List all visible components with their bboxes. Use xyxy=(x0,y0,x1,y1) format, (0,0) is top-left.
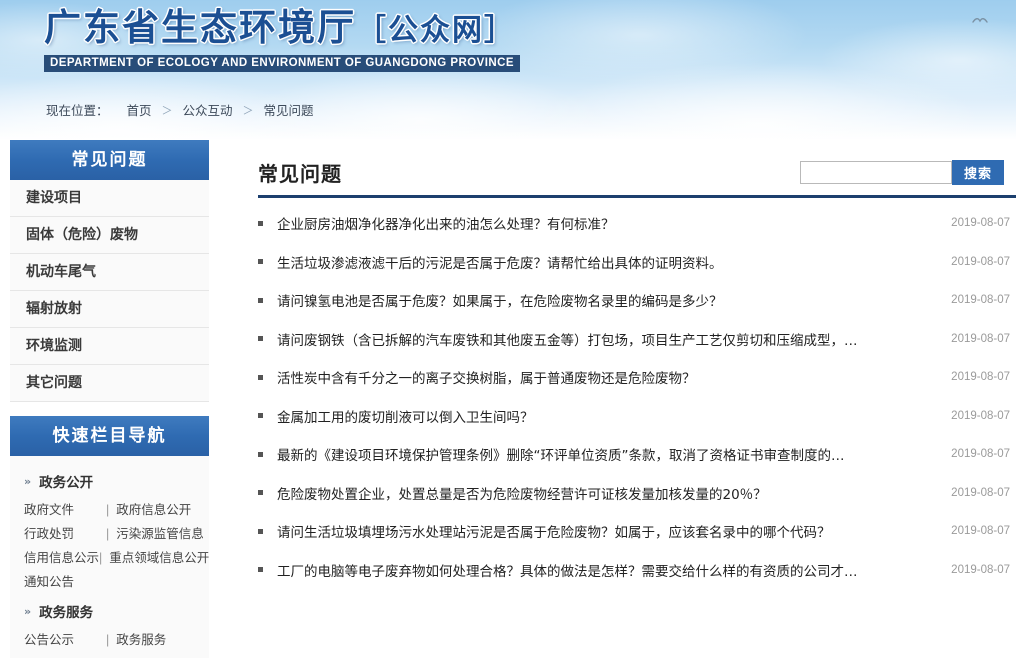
breadcrumb-separator-icon: ＞ xyxy=(162,102,173,118)
breadcrumb-separator-icon: ＞ xyxy=(243,102,254,118)
bullet-icon xyxy=(258,259,263,264)
sidebar-item-radiation[interactable]: 辐射放射 xyxy=(10,291,209,328)
search-box: 搜索 xyxy=(800,160,1004,185)
quick-nav-divider: | xyxy=(99,548,102,568)
list-item[interactable]: 工厂的电脑等电子废弃物如何处理合格？具体的做法是怎样？需要交给什么样的有资质的公… xyxy=(258,551,1010,590)
faq-title[interactable]: 危险废物处置企业，处置总量是否为危险废物经营许可证核发量加核发量的20％？ xyxy=(277,483,935,503)
quick-nav-row: 政府文件 | 政府信息公开 xyxy=(10,498,209,522)
page-body: 常见问题 建设项目 固体（危险）废物 机动车尾气 辐射放射 环境监测 其它问题 … xyxy=(0,140,1016,658)
list-item[interactable]: 金属加工用的废切削液可以倒入卫生间吗？ 2019-08-07 xyxy=(258,397,1010,436)
faq-date: 2019-08-07 xyxy=(951,333,1010,345)
faq-date: 2019-08-07 xyxy=(951,294,1010,306)
quick-nav-link-credit-info-publicity[interactable]: 信用信息公示 xyxy=(24,548,99,568)
faq-date: 2019-08-07 xyxy=(951,448,1010,460)
faq-date: 2019-08-07 xyxy=(951,525,1010,537)
site-title-cn-text: 广东省生态环境厅 xyxy=(44,6,356,49)
breadcrumb: 现在位置： 首页 ＞ 公众互动 ＞ 常见问题 xyxy=(0,100,1016,119)
sidebar-item-environmental-monitoring[interactable]: 环境监测 xyxy=(10,328,209,365)
list-item[interactable]: 最新的《建设项目环境保护管理条例》删除“环评单位资质”条款，取消了资格证书审查制… xyxy=(258,435,1010,474)
search-input[interactable] xyxy=(800,161,952,184)
bullet-icon xyxy=(258,221,263,226)
chevron-double-right-icon: » xyxy=(24,605,31,618)
faq-date: 2019-08-07 xyxy=(951,564,1010,576)
faq-title[interactable]: 企业厨房油烟净化器净化出来的油怎么处理？有何标准？ xyxy=(277,213,935,233)
page-title: 常见问题 xyxy=(258,158,342,187)
quick-nav-group-government-affairs-disclosure[interactable]: » 政务公开 xyxy=(10,464,209,498)
search-button[interactable]: 搜索 xyxy=(952,160,1004,185)
faq-date: 2019-08-07 xyxy=(951,487,1010,499)
quick-nav-link-pollution-source-supervision[interactable]: 污染源监管信息 xyxy=(116,524,204,544)
faq-title[interactable]: 请问生活垃圾填埋场污水处理站污泥是否属于危险废物？如属于，应该套名录中的哪个代码… xyxy=(277,521,935,541)
breadcrumb-item-faq[interactable]: 常见问题 xyxy=(264,100,314,119)
list-item[interactable]: 危险废物处置企业，处置总量是否为危险废物经营许可证核发量加核发量的20％？ 20… xyxy=(258,474,1010,513)
bullet-icon xyxy=(258,413,263,418)
quick-nav-link-announcement-publicity[interactable]: 公告公示 xyxy=(24,630,106,650)
site-title-cn: 广东省生态环境厅［公众网］ xyxy=(44,6,520,53)
sidebar-item-other-questions[interactable]: 其它问题 xyxy=(10,365,209,402)
sidebar-category-list: 建设项目 固体（危险）废物 机动车尾气 辐射放射 环境监测 其它问题 xyxy=(10,180,209,402)
sidebar: 常见问题 建设项目 固体（危险）废物 机动车尾气 辐射放射 环境监测 其它问题 … xyxy=(10,140,209,658)
faq-list: 企业厨房油烟净化器净化出来的油怎么处理？有何标准？ 2019-08-07 生活垃… xyxy=(240,198,1016,589)
site-title-en: DEPARTMENT OF ECOLOGY AND ENVIRONMENT OF… xyxy=(44,55,520,72)
quick-nav-link-government-documents[interactable]: 政府文件 xyxy=(24,500,106,520)
bullet-icon xyxy=(258,336,263,341)
quick-nav-group-label: 政务服务 xyxy=(39,601,93,621)
bullet-icon xyxy=(258,452,263,457)
bird-icon xyxy=(972,14,988,28)
quick-nav-divider: | xyxy=(106,500,109,520)
sidebar-item-construction-project[interactable]: 建设项目 xyxy=(10,180,209,217)
quick-nav-divider: | xyxy=(106,630,109,650)
quick-nav-divider: | xyxy=(106,524,109,544)
faq-title[interactable]: 请问镍氢电池是否属于危废？如果属于，在危险废物名录里的编码是多少？ xyxy=(277,290,935,310)
sidebar-item-vehicle-exhaust[interactable]: 机动车尾气 xyxy=(10,254,209,291)
content-header: 常见问题 搜索 xyxy=(240,140,1016,195)
quick-nav-row: 公告公示 | 政务服务 xyxy=(10,628,209,652)
bullet-icon xyxy=(258,567,263,572)
list-item[interactable]: 活性炭中含有千分之一的离子交换树脂，属于普通废物还是危险废物？ 2019-08-… xyxy=(258,358,1010,397)
list-item[interactable]: 请问生活垃圾填埋场污水处理站污泥是否属于危险废物？如属于，应该套名录中的哪个代码… xyxy=(258,512,1010,551)
bullet-icon xyxy=(258,375,263,380)
breadcrumb-item-home[interactable]: 首页 xyxy=(127,100,152,119)
quick-nav-link-notice-announcement[interactable]: 通知公告 xyxy=(24,572,106,592)
bullet-icon xyxy=(258,298,263,303)
quick-nav-link-government-services[interactable]: 政务服务 xyxy=(116,630,166,650)
quick-nav-panel: 快速栏目导航 » 政务公开 政府文件 | 政府信息公开 行政处罚 | 污染源监管… xyxy=(10,416,209,658)
main-content: 常见问题 搜索 企业厨房油烟净化器净化出来的油怎么处理？有何标准？ 2019-0… xyxy=(240,140,1016,658)
sidebar-panel-title: 常见问题 xyxy=(10,140,209,180)
faq-title[interactable]: 金属加工用的废切削液可以倒入卫生间吗？ xyxy=(277,406,935,426)
faq-title[interactable]: 生活垃圾渗滤液滤干后的污泥是否属于危废？请帮忙给出具体的证明资料。 xyxy=(277,252,935,272)
list-item[interactable]: 请问废钢铁（含已拆解的汽车废铁和其他废五金等）打包场，项目生产工艺仅剪切和压缩成… xyxy=(258,320,1010,359)
site-title-bracket: ［公众网］ xyxy=(356,13,516,48)
quick-nav-link-administrative-penalty[interactable]: 行政处罚 xyxy=(24,524,106,544)
quick-nav-group-label: 政务公开 xyxy=(39,471,93,491)
faq-title[interactable]: 最新的《建设项目环境保护管理条例》删除“环评单位资质”条款，取消了资格证书审查制… xyxy=(277,444,935,464)
faq-date: 2019-08-07 xyxy=(951,371,1010,383)
site-logo[interactable]: 广东省生态环境厅［公众网］ DEPARTMENT OF ECOLOGY AND … xyxy=(44,6,520,72)
sidebar-item-solid-hazardous-waste[interactable]: 固体（危险）废物 xyxy=(10,217,209,254)
quick-nav-row: 行政处罚 | 污染源监管信息 xyxy=(10,522,209,546)
faq-title[interactable]: 活性炭中含有千分之一的离子交换树脂，属于普通废物还是危险废物？ xyxy=(277,367,935,387)
faq-date: 2019-08-07 xyxy=(951,256,1010,268)
list-item[interactable]: 企业厨房油烟净化器净化出来的油怎么处理？有何标准？ 2019-08-07 xyxy=(258,204,1010,243)
chevron-double-right-icon: » xyxy=(24,475,31,488)
faq-title[interactable]: 请问废钢铁（含已拆解的汽车废铁和其他废五金等）打包场，项目生产工艺仅剪切和压缩成… xyxy=(277,329,935,349)
list-item[interactable]: 请问镍氢电池是否属于危废？如果属于，在危险废物名录里的编码是多少？ 2019-0… xyxy=(258,281,1010,320)
faq-date: 2019-08-07 xyxy=(951,217,1010,229)
quick-nav-group-government-services[interactable]: » 政务服务 xyxy=(10,594,209,628)
quick-nav-body: » 政务公开 政府文件 | 政府信息公开 行政处罚 | 污染源监管信息 信用信息… xyxy=(10,456,209,658)
faq-date: 2019-08-07 xyxy=(951,410,1010,422)
bullet-icon xyxy=(258,490,263,495)
list-item[interactable]: 生活垃圾渗滤液滤干后的污泥是否属于危废？请帮忙给出具体的证明资料。 2019-0… xyxy=(258,243,1010,282)
faq-title[interactable]: 工厂的电脑等电子废弃物如何处理合格？具体的做法是怎样？需要交给什么样的有资质的公… xyxy=(277,560,935,580)
breadcrumb-item-public-interaction[interactable]: 公众互动 xyxy=(183,100,233,119)
quick-nav-title: 快速栏目导航 xyxy=(10,416,209,456)
bullet-icon xyxy=(258,529,263,534)
quick-nav-link-key-areas-disclosure[interactable]: 重点领域信息公开 xyxy=(109,548,209,568)
breadcrumb-label: 现在位置： xyxy=(46,100,109,119)
site-banner: 广东省生态环境厅［公众网］ DEPARTMENT OF ECOLOGY AND … xyxy=(0,0,1016,140)
quick-nav-link-government-info-disclosure[interactable]: 政府信息公开 xyxy=(116,500,191,520)
quick-nav-row: 通知公告 xyxy=(10,570,209,594)
quick-nav-row: 信用信息公示 | 重点领域信息公开 xyxy=(10,546,209,570)
